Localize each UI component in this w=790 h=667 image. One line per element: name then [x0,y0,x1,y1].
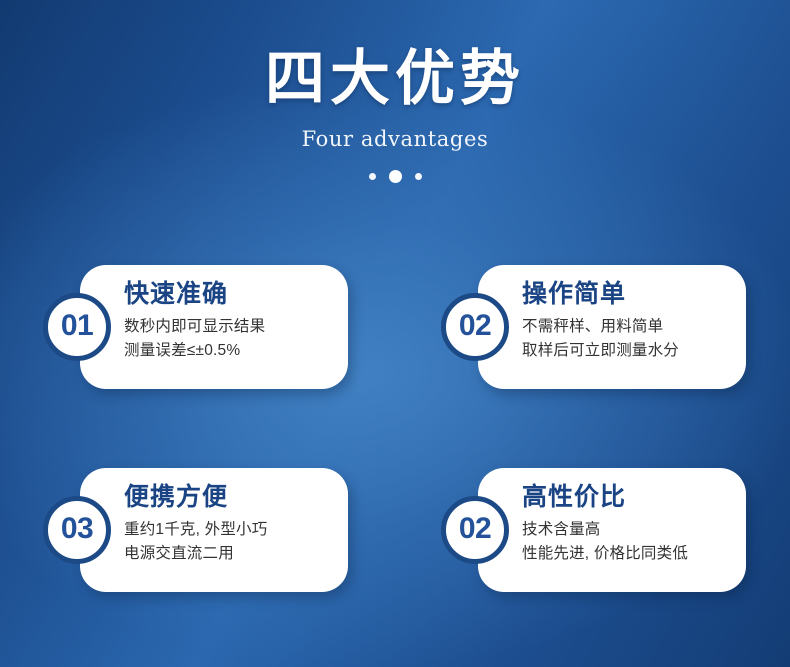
poster-header: 四大优势 Four advantages [0,0,790,183]
card-body-1: 快速准确 数秒内即可显示结果 测量误差≤±0.5% [124,280,336,363]
card-description-3: 重约1千克, 外型小巧 电源交直流二用 [124,511,336,566]
advantage-card-4: 02 高性价比 技术含量高 性能先进, 价格比同类低 [478,468,746,592]
card-number-badge-4: 02 [441,496,509,564]
card-description-4: 技术含量高 性能先进, 价格比同类低 [522,511,734,566]
card-body-2: 操作简单 不需秤样、用料简单 取样后可立即测量水分 [522,280,734,363]
card-title: 便携方便 [124,483,336,511]
page-title: 四大优势 [0,0,790,113]
card-description-line: 数秒内即可显示结果 [124,315,336,339]
card-title: 高性价比 [522,483,734,511]
card-description-line: 重约1千克, 外型小巧 [124,518,336,542]
card-number-label: 01 [61,311,93,341]
card-description-2: 不需秤样、用料简单 取样后可立即测量水分 [522,308,734,363]
advantage-card-grid: 01 快速准确 数秒内即可显示结果 测量误差≤±0.5% 02 操作简单 不需秤… [0,265,790,595]
card-number-label: 02 [459,514,491,544]
advantage-card-3: 03 便携方便 重约1千克, 外型小巧 电源交直流二用 [80,468,348,592]
card-description-line: 不需秤样、用料简单 [522,315,734,339]
card-description-line: 性能先进, 价格比同类低 [522,542,734,566]
dot-icon-right [415,173,422,180]
card-description-line: 取样后可立即测量水分 [522,339,734,363]
card-body-3: 便携方便 重约1千克, 外型小巧 电源交直流二用 [124,483,336,566]
advantages-poster: 四大优势 Four advantages 01 快速准确 数秒内即可显示结果 测… [0,0,790,667]
advantage-card-2: 02 操作简单 不需秤样、用料简单 取样后可立即测量水分 [478,265,746,389]
card-title: 操作简单 [522,280,734,308]
card-description-line: 测量误差≤±0.5% [124,339,336,363]
card-number-badge-2: 02 [441,293,509,361]
dot-icon-left [369,173,376,180]
page-subtitle: Four advantages [0,113,790,151]
card-description-line: 电源交直流二用 [124,542,336,566]
advantage-card-1: 01 快速准确 数秒内即可显示结果 测量误差≤±0.5% [80,265,348,389]
card-number-badge-3: 03 [43,496,111,564]
decorative-dots [0,151,790,183]
card-body-4: 高性价比 技术含量高 性能先进, 价格比同类低 [522,483,734,566]
card-number-badge-1: 01 [43,293,111,361]
card-number-label: 02 [459,311,491,341]
card-description-line: 技术含量高 [522,518,734,542]
card-description-1: 数秒内即可显示结果 测量误差≤±0.5% [124,308,336,363]
card-number-label: 03 [61,514,93,544]
dot-icon-center [389,170,402,183]
card-title: 快速准确 [124,280,336,308]
